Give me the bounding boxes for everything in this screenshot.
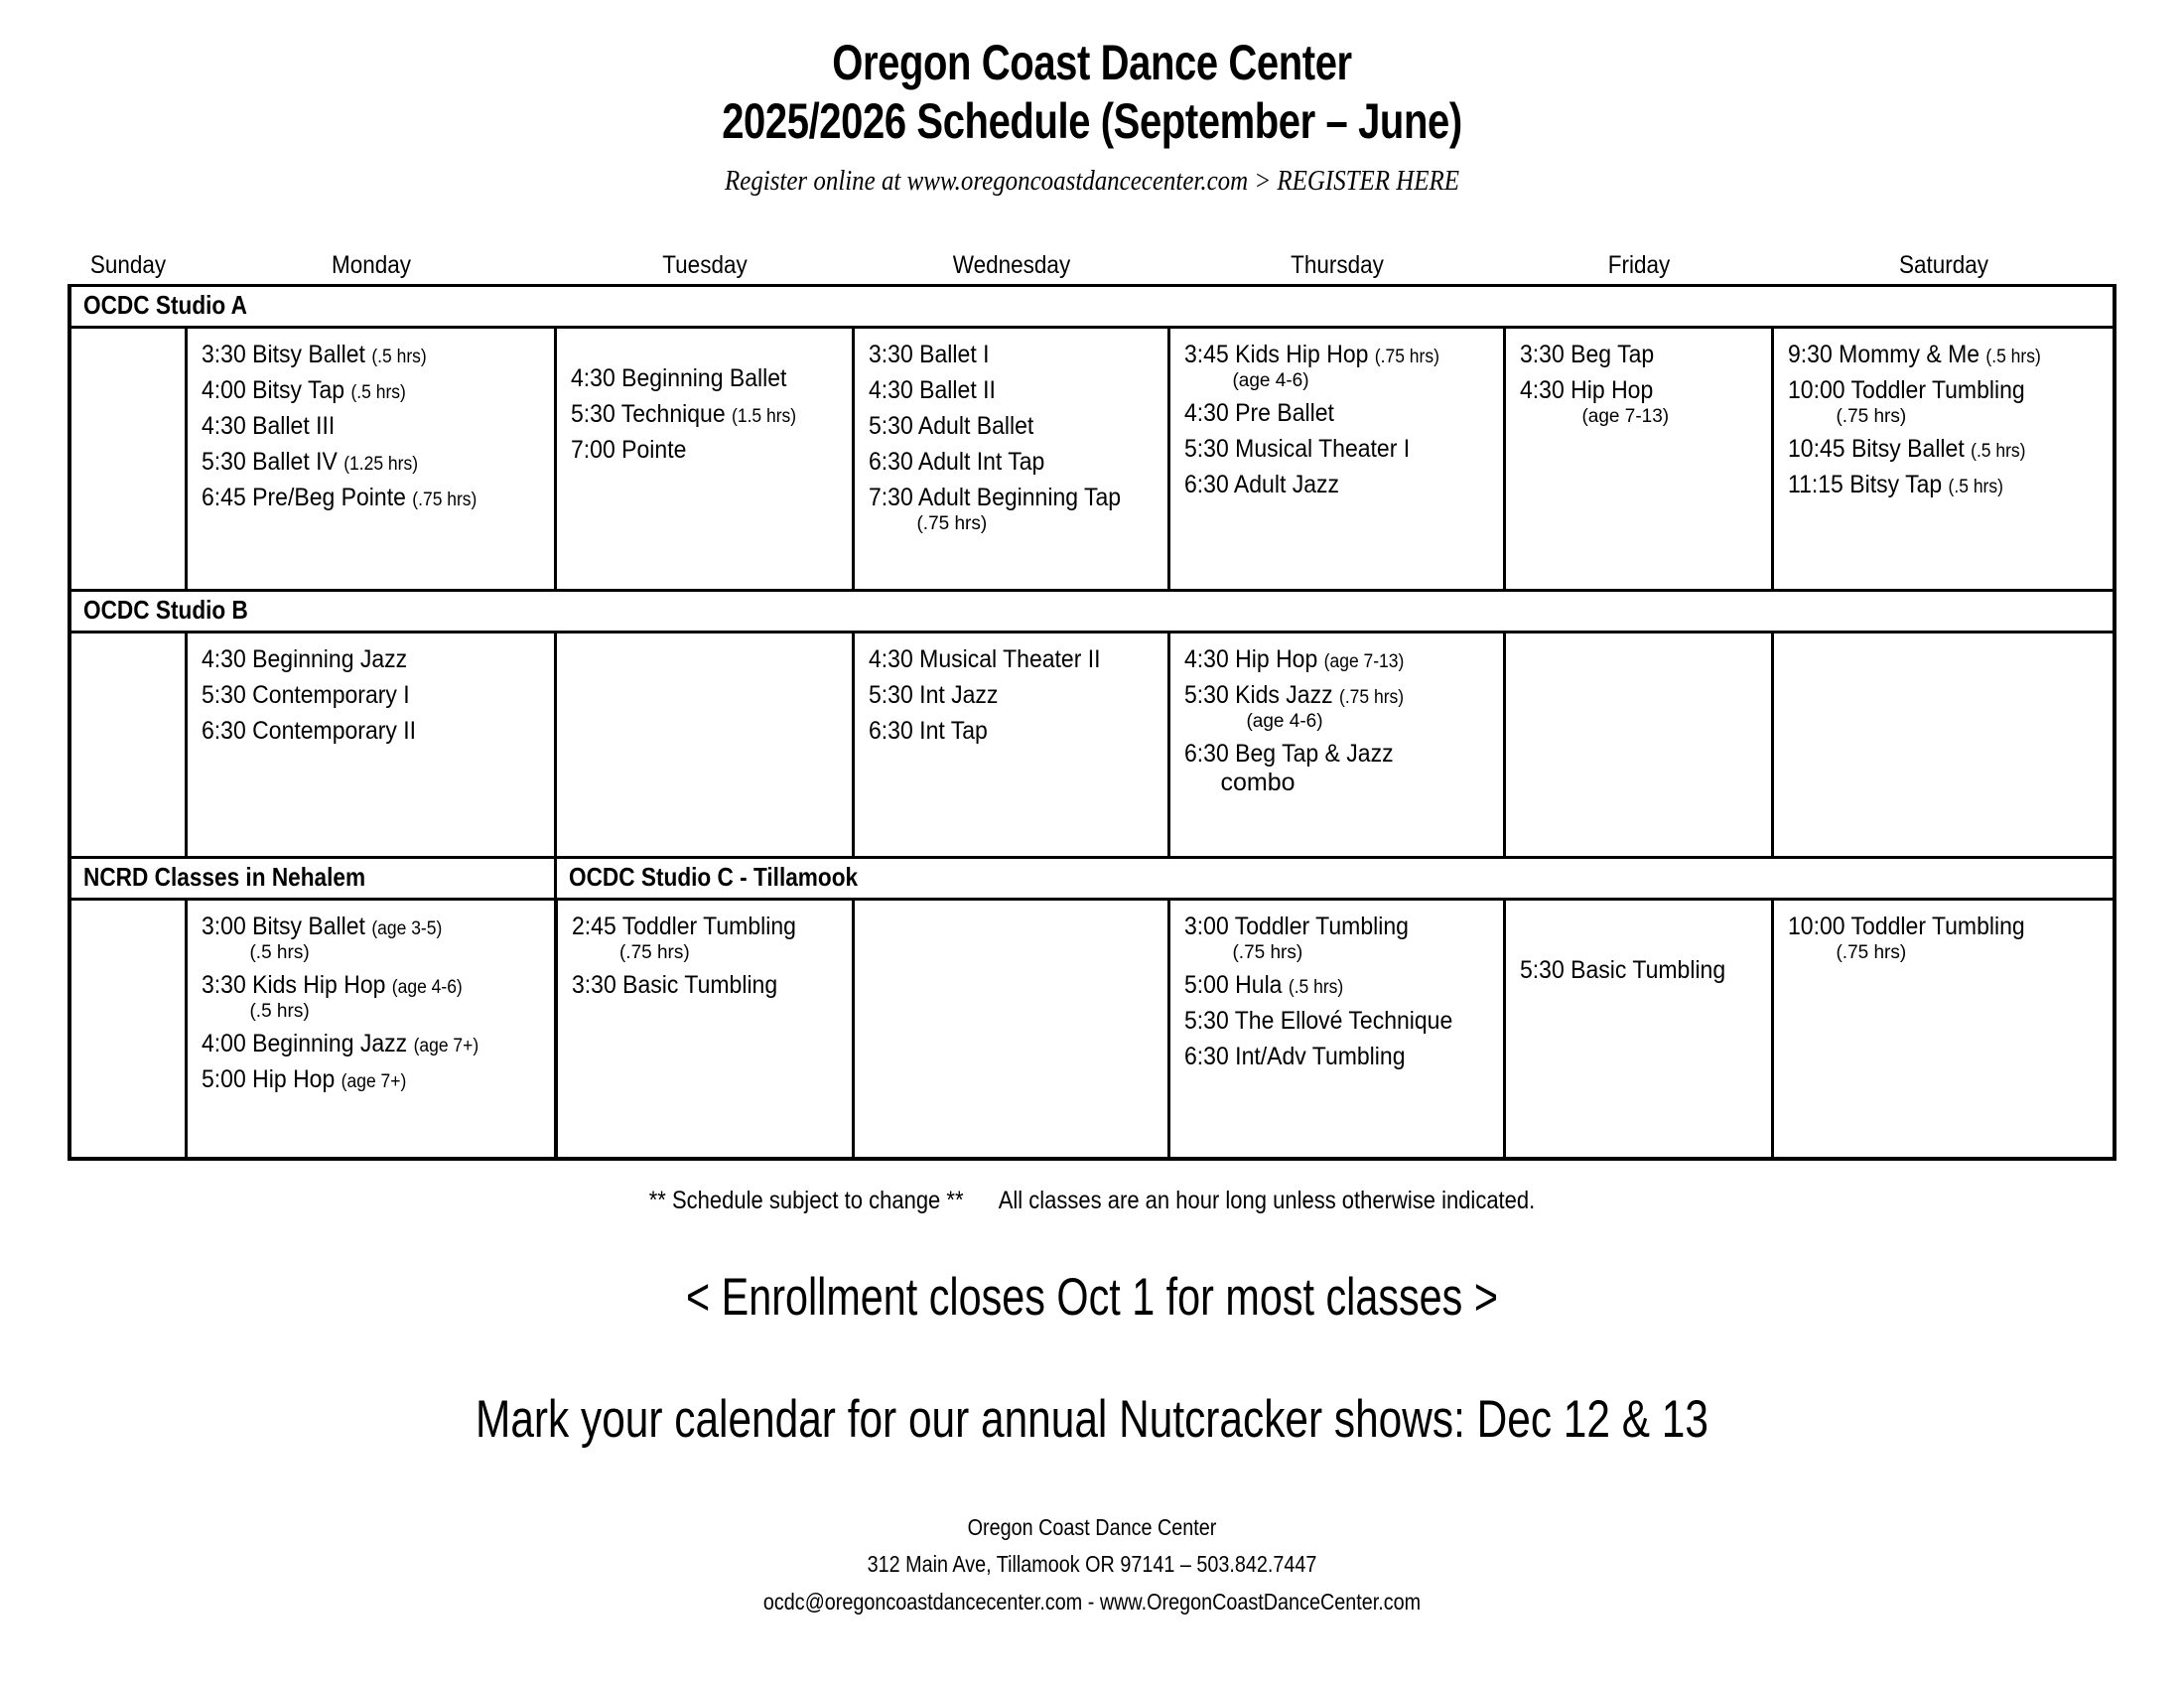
class-note: (.5 hrs) <box>202 943 544 962</box>
class-time: 7:00 <box>571 436 615 464</box>
class-time: 4:30 <box>869 645 913 673</box>
studio-b-classes-row: 4:30 Beginning Jazz 5:30 Contemporary I … <box>69 633 2115 858</box>
studio-a-tuesday-cell[interactable]: 4:30 Beginning Ballet 5:30 Technique (1.… <box>556 328 854 591</box>
class-time: 5:30 <box>1184 1007 1229 1035</box>
class-duration: (.5 hrs) <box>1986 347 2041 367</box>
class-name: Contemporary I <box>253 681 411 709</box>
class-name: Ballet IV <box>253 448 339 476</box>
class-name: Mommy & Me <box>1840 341 1980 368</box>
class-name: Contemporary II <box>253 717 417 745</box>
class-time: 6:30 <box>869 448 913 476</box>
class-entry[interactable]: 5:30 The Ellové Technique <box>1184 1009 1493 1034</box>
class-duration: (.5 hrs) <box>1949 477 2003 497</box>
class-name: Ballet III <box>253 412 336 440</box>
class-note: (.75 hrs) <box>1184 943 1493 962</box>
class-time: 4:30 <box>1184 645 1229 673</box>
class-entry[interactable]: 4:30 Hip Hop (age 7-13) <box>1184 647 1493 672</box>
band-header-studio-a-row: OCDC Studio A <box>69 286 2115 328</box>
class-time: 7:30 <box>869 484 913 511</box>
class-entry[interactable]: 10:00 Toddler Tumbling(.75 hrs) <box>1788 378 2103 426</box>
class-name: Adult Jazz <box>1234 471 1339 498</box>
class-age-note: (age 7+) <box>414 1036 479 1056</box>
class-entry[interactable]: 6:30 Adult Int Tap <box>869 450 1158 475</box>
class-name: Hip Hop <box>1571 376 1654 404</box>
class-name: Kids Hip Hop <box>253 971 386 999</box>
class-duration: (1.5 hrs) <box>732 406 796 427</box>
studio-a-classes-row: 3:30 Bitsy Ballet (.5 hrs) 4:00 Bitsy Ta… <box>69 328 2115 591</box>
page-header: Oregon Coast Dance Center 2025/2026 Sche… <box>0 0 2184 198</box>
class-entry[interactable]: 3:30 Beg Tap <box>1520 343 1761 367</box>
class-entry[interactable]: 3:30 Ballet I <box>869 343 1158 367</box>
class-name: Ballet II <box>920 376 997 404</box>
class-name: Toddler Tumbling <box>1235 913 1409 940</box>
class-entry[interactable]: 3:45 Kids Hip Hop (.75 hrs)(age 4-6) <box>1184 343 1493 390</box>
class-time: 4:30 <box>1520 376 1565 404</box>
class-time: 4:00 <box>202 1030 246 1057</box>
class-entry[interactable]: 6:30 Int Tap <box>869 719 1158 744</box>
class-name: Basic Tumbling <box>622 971 777 999</box>
class-time: 4:30 <box>202 412 246 440</box>
studio-b-saturday-cell[interactable] <box>1773 633 2115 858</box>
class-name: Pre Ballet <box>1236 399 1335 427</box>
schedule-table: OCDC Studio A 3:30 Bitsy Ballet (.5 hrs)… <box>68 284 2116 1161</box>
band-header-ncrd: NCRD Classes in Nehalem <box>69 858 556 900</box>
class-time: 4:30 <box>571 364 615 392</box>
studio-b-wednesday-cell[interactable]: 4:30 Musical Theater II 5:30 Int Jazz 6:… <box>854 633 1169 858</box>
class-time: 4:30 <box>869 376 913 404</box>
class-duration: (.75 hrs) <box>1339 687 1404 708</box>
class-entry[interactable]: 4:30 Musical Theater II <box>869 647 1158 672</box>
class-name: Toddler Tumbling <box>622 913 796 940</box>
band-header-studio-a-label: OCDC Studio A <box>83 290 247 321</box>
class-entry[interactable]: 4:00 Beginning Jazz (age 7+) <box>202 1032 544 1056</box>
class-name: Hip Hop <box>253 1065 336 1093</box>
class-age-note: (age 4-6) <box>1184 712 1493 731</box>
studio-a-sunday-cell[interactable] <box>69 328 187 591</box>
class-age-note: (age 7-13) <box>1520 407 1761 426</box>
studio-b-monday-cell[interactable]: 4:30 Beginning Jazz 5:30 Contemporary I … <box>187 633 556 858</box>
studio-b-tuesday-cell[interactable] <box>556 633 854 858</box>
class-time: 3:00 <box>202 913 246 940</box>
band-header-ncrd-studioc-row: NCRD Classes in Nehalem OCDC Studio C - … <box>69 858 2115 900</box>
class-name: Bitsy Ballet <box>253 913 366 940</box>
class-name: Beg Tap <box>1571 341 1655 368</box>
class-time: 5:00 <box>202 1065 246 1093</box>
studio-b-thursday-cell[interactable]: 4:30 Hip Hop (age 7-13) 5:30 Kids Jazz (… <box>1169 633 1505 858</box>
class-duration: (.75 hrs) <box>1375 347 1439 367</box>
class-entry[interactable]: 9:30 Mommy & Me (.5 hrs) <box>1788 343 2103 367</box>
class-age-note: (age 4-6) <box>392 977 463 998</box>
class-time: 3:45 <box>1184 341 1229 368</box>
studio-c-tuesday-cell[interactable]: 2:45 Toddler Tumbling(.75 hrs) 3:30 Basi… <box>556 900 854 1160</box>
class-entry[interactable]: 7:30 Adult Beginning Tap(.75 hrs) <box>869 486 1158 533</box>
day-header-friday: Friday <box>1519 251 1760 284</box>
class-name: Beginning Jazz <box>253 1030 408 1057</box>
day-header-wednesday: Wednesday <box>870 251 1154 284</box>
ncrd-studioc-classes-row: 3:00 Bitsy Ballet (age 3-5)(.5 hrs) 3:30… <box>69 900 2115 1160</box>
class-name: Adult Beginning Tap <box>918 484 1121 511</box>
studio-a-saturday-cell[interactable]: 9:30 Mommy & Me (.5 hrs) 10:00 Toddler T… <box>1773 328 2115 591</box>
class-name: Basic Tumbling <box>1571 956 1726 984</box>
class-entry[interactable]: 4:30 Hip Hop(age 7-13) <box>1520 378 1761 426</box>
class-age-note: (age 7+) <box>341 1071 407 1092</box>
class-entry[interactable]: 5:30 Musical Theater I <box>1184 437 1493 462</box>
studio-b-sunday-cell[interactable] <box>69 633 187 858</box>
day-header-saturday: Saturday <box>1790 251 2098 284</box>
studio-a-wednesday-cell[interactable]: 3:30 Ballet I 4:30 Ballet II 5:30 Adult … <box>854 328 1169 591</box>
page-title-line1: Oregon Coast Dance Center <box>218 34 1966 92</box>
class-time: 6:30 <box>1184 740 1229 768</box>
class-entry[interactable]: 3:00 Bitsy Ballet (age 3-5)(.5 hrs) <box>202 914 544 962</box>
class-name: Kids Hip Hop <box>1236 341 1369 368</box>
page-title-line2: 2025/2026 Schedule (September – June) <box>218 92 1966 151</box>
class-time: 6:30 <box>202 717 246 745</box>
class-name: Toddler Tumbling <box>1851 376 2025 404</box>
class-name: Bitsy Ballet <box>253 341 366 368</box>
class-time: 6:30 <box>869 717 913 745</box>
class-entry[interactable]: 4:30 Ballet II <box>869 378 1158 403</box>
class-time: 5:30 <box>202 448 246 476</box>
class-entry[interactable]: 3:00 Toddler Tumbling(.75 hrs) <box>1184 914 1493 962</box>
contact-name: Oregon Coast Dance Center <box>153 1509 2031 1546</box>
class-time: 6:30 <box>1184 471 1229 498</box>
class-time: 11:15 <box>1788 471 1843 498</box>
class-entry[interactable]: 4:30 Ballet III <box>202 414 544 439</box>
note-class-length: All classes are an hour long unless othe… <box>999 1187 1536 1214</box>
class-entry[interactable]: 5:30 Int Jazz <box>869 683 1158 708</box>
class-name: Musical Theater II <box>920 645 1101 673</box>
class-time: 10:45 <box>1788 435 1845 463</box>
class-entry[interactable]: 7:00 Pointe <box>571 438 842 463</box>
class-entry[interactable]: 5:30 Technique (1.5 hrs) <box>571 402 842 427</box>
class-duration: (.75 hrs) <box>413 490 478 510</box>
class-entry[interactable]: 3:30 Bitsy Ballet (.5 hrs) <box>202 343 544 367</box>
class-age-note: (age 7-13) <box>1324 651 1405 672</box>
class-entry[interactable]: 5:00 Hip Hop (age 7+) <box>202 1067 544 1092</box>
schedule-note: ** Schedule subject to change **All clas… <box>131 1187 2053 1215</box>
class-time: 6:45 <box>202 484 246 511</box>
class-name: Kids Jazz <box>1236 681 1333 709</box>
class-time: 2:45 <box>572 913 616 940</box>
class-name: Technique <box>621 400 726 428</box>
studio-c-friday-cell[interactable]: 5:30 Basic Tumbling <box>1505 900 1773 1160</box>
class-time: 5:30 <box>1184 681 1229 709</box>
studio-c-saturday-cell[interactable]: 10:00 Toddler Tumbling(.75 hrs) <box>1773 900 2115 1160</box>
class-entry[interactable]: 6:30 Int/Adv Tumbling <box>1184 1045 1493 1069</box>
studio-a-friday-cell[interactable]: 3:30 Beg Tap 4:30 Hip Hop(age 7-13) <box>1505 328 1773 591</box>
day-header-thursday: Thursday <box>1186 251 1488 284</box>
class-name: Adult Int Tap <box>918 448 1044 476</box>
note-subject-to-change: ** Schedule subject to change ** <box>649 1187 964 1214</box>
class-time: 4:00 <box>202 376 246 404</box>
class-name: Int Jazz <box>920 681 999 709</box>
class-name: Ballet I <box>920 341 990 368</box>
class-entry[interactable]: 6:45 Pre/Beg Pointe (.75 hrs) <box>202 486 544 510</box>
class-entry[interactable]: 6:30 Contemporary II <box>202 719 544 744</box>
band-header-studio-a: OCDC Studio A <box>69 286 2115 328</box>
class-entry[interactable]: 6:30 Adult Jazz <box>1184 473 1493 497</box>
class-time: 5:30 <box>202 681 246 709</box>
class-time: 5:30 <box>1184 435 1229 463</box>
contact-block: Oregon Coast Dance Center 312 Main Ave, … <box>0 1509 2184 1620</box>
class-entry[interactable]: 5:30 Contemporary I <box>202 683 544 708</box>
class-duration: (.5 hrs) <box>351 382 406 403</box>
class-name: Musical Theater I <box>1236 435 1411 463</box>
class-time: 3:00 <box>1184 913 1229 940</box>
class-note: (.75 hrs) <box>1788 943 2103 962</box>
class-duration: (.5 hrs) <box>1972 441 2026 462</box>
class-time: 5:30 <box>1520 956 1565 984</box>
class-time: 5:30 <box>571 400 615 428</box>
class-entry[interactable]: 5:00 Hula (.5 hrs) <box>1184 973 1493 998</box>
studio-b-friday-cell[interactable] <box>1505 633 1773 858</box>
class-time: 3:30 <box>572 971 616 999</box>
studio-c-wednesday-cell[interactable] <box>854 900 1169 1160</box>
day-header-sunday: Sunday <box>75 251 181 284</box>
class-entry[interactable]: 3:30 Basic Tumbling <box>572 973 843 998</box>
class-name: Int Tap <box>920 717 989 745</box>
studio-a-monday-cell[interactable]: 3:30 Bitsy Ballet (.5 hrs) 4:00 Bitsy Ta… <box>187 328 556 591</box>
class-time: 5:30 <box>869 681 913 709</box>
day-header-tuesday: Tuesday <box>571 251 839 284</box>
class-name: Beginning Jazz <box>253 645 408 673</box>
band-header-ncrd-label: NCRD Classes in Nehalem <box>83 862 365 893</box>
class-time: 4:30 <box>1184 399 1229 427</box>
class-time: 3:30 <box>869 341 913 368</box>
day-headers-row: Sunday Monday Tuesday Wednesday Thursday… <box>69 251 2115 284</box>
class-entry[interactable]: 4:30 Beginning Jazz <box>202 647 544 672</box>
ncrd-sunday-cell[interactable] <box>69 900 187 1160</box>
class-name: Hula <box>1236 971 1283 999</box>
studio-c-thursday-cell[interactable]: 3:00 Toddler Tumbling(.75 hrs) 5:00 Hula… <box>1169 900 1505 1160</box>
class-entry[interactable]: 5:30 Ballet IV (1.25 hrs) <box>202 450 544 475</box>
class-name: Toddler Tumbling <box>1851 913 2025 940</box>
class-note: (.5 hrs) <box>202 1002 544 1021</box>
schedule-page: Oregon Coast Dance Center 2025/2026 Sche… <box>0 0 2184 1688</box>
ncrd-monday-cell[interactable]: 3:00 Bitsy Ballet (age 3-5)(.5 hrs) 3:30… <box>187 900 556 1160</box>
class-time: 9:30 <box>1788 341 1833 368</box>
class-time: 5:30 <box>869 412 913 440</box>
class-note: (.75 hrs) <box>1788 407 2103 426</box>
class-name: Pre/Beg Pointe <box>253 484 407 511</box>
class-duration: (.5 hrs) <box>1289 977 1343 998</box>
class-time: 5:00 <box>1184 971 1229 999</box>
class-entry[interactable]: 5:30 Kids Jazz (.75 hrs)(age 4-6) <box>1184 683 1493 731</box>
class-name-continued: combo <box>1184 771 1493 795</box>
class-note: (.75 hrs) <box>869 514 1158 533</box>
class-time: 4:30 <box>202 645 246 673</box>
class-age-note: (age 4-6) <box>1184 371 1493 390</box>
class-name: Bitsy Tap <box>253 376 345 404</box>
class-time: 10:00 <box>1788 376 1845 404</box>
class-name: Adult Ballet <box>918 412 1033 440</box>
class-entry[interactable]: 5:30 Basic Tumbling <box>1520 958 1761 983</box>
class-entry[interactable]: 10:00 Toddler Tumbling(.75 hrs) <box>1788 914 2103 962</box>
class-name: Pointe <box>622 436 687 464</box>
nutcracker-announcement: Mark your calendar for our annual Nutcra… <box>218 1389 1966 1450</box>
class-time: 6:30 <box>1184 1043 1229 1070</box>
class-entry[interactable]: 4:00 Bitsy Tap (.5 hrs) <box>202 378 544 403</box>
class-name: Beg Tap & Jazz <box>1236 740 1394 768</box>
class-entry[interactable]: 4:30 Pre Ballet <box>1184 401 1493 426</box>
class-entry[interactable]: 2:45 Toddler Tumbling(.75 hrs) <box>572 914 843 962</box>
class-name: Int/Adv Tumbling <box>1236 1043 1406 1070</box>
band-header-studio-c: OCDC Studio C - Tillamook <box>556 858 2115 900</box>
enrollment-announcement: < Enrollment closes Oct 1 for most class… <box>240 1267 1944 1328</box>
band-header-studio-b: OCDC Studio B <box>69 591 2115 633</box>
class-entry[interactable]: 3:30 Kids Hip Hop (age 4-6)(.5 hrs) <box>202 973 544 1021</box>
class-age-note: (age 3-5) <box>372 918 443 939</box>
day-header-monday: Monday <box>205 251 538 284</box>
class-entry[interactable]: 6:30 Beg Tap & Jazzcombo <box>1184 742 1493 795</box>
class-time: 3:30 <box>1520 341 1565 368</box>
class-entry[interactable]: 4:30 Beginning Ballet <box>571 366 842 391</box>
class-entry[interactable]: 5:30 Adult Ballet <box>869 414 1158 439</box>
class-duration: (.5 hrs) <box>372 347 427 367</box>
register-link-line[interactable]: Register online at www.oregoncoastdancec… <box>153 165 2031 198</box>
class-entry[interactable]: 10:45 Bitsy Ballet (.5 hrs) <box>1788 437 2103 462</box>
class-time: 10:00 <box>1788 913 1845 940</box>
class-name: The Ellové Technique <box>1235 1007 1453 1035</box>
class-duration: (1.25 hrs) <box>344 454 419 475</box>
band-header-studio-c-label: OCDC Studio C - Tillamook <box>569 862 858 893</box>
class-time: 3:30 <box>202 341 246 368</box>
class-time: 3:30 <box>202 971 246 999</box>
class-entry[interactable]: 11:15 Bitsy Tap (.5 hrs) <box>1788 473 2103 497</box>
contact-web[interactable]: ocdc@oregoncoastdancecenter.com - www.Or… <box>153 1584 2031 1620</box>
band-header-studio-b-row: OCDC Studio B <box>69 591 2115 633</box>
class-note: (.75 hrs) <box>572 943 843 962</box>
class-name: Beginning Ballet <box>622 364 787 392</box>
studio-a-thursday-cell[interactable]: 3:45 Kids Hip Hop (.75 hrs)(age 4-6) 4:3… <box>1169 328 1505 591</box>
band-header-studio-b-label: OCDC Studio B <box>83 595 248 626</box>
class-name: Bitsy Tap <box>1850 471 1943 498</box>
class-name: Bitsy Ballet <box>1851 435 1965 463</box>
class-name: Hip Hop <box>1236 645 1318 673</box>
contact-address: 312 Main Ave, Tillamook OR 97141 – 503.8… <box>153 1546 2031 1583</box>
